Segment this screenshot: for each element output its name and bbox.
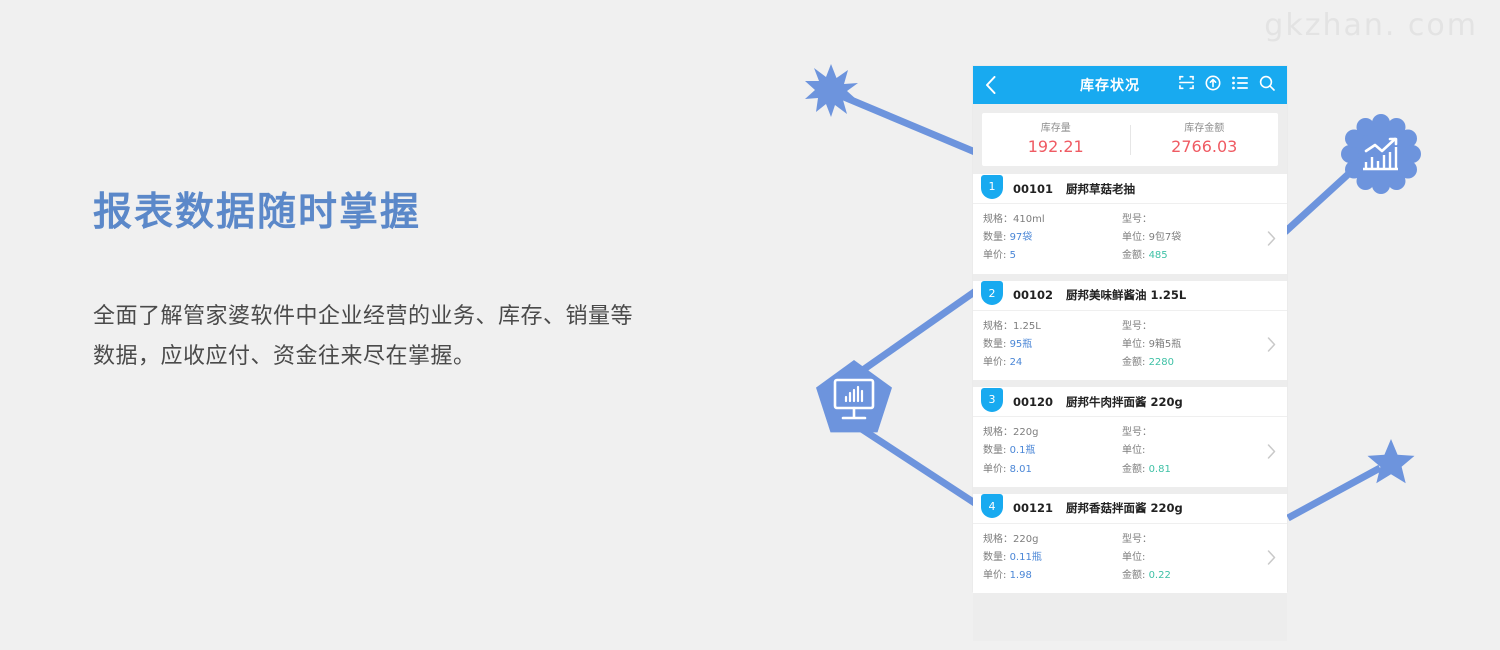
field-qty: 数量: 0.11瓶	[983, 549, 1122, 567]
field-price-value: 24	[1010, 357, 1023, 368]
summary-label: 库存金额	[1131, 121, 1279, 136]
item-index-badge: 3	[981, 388, 1003, 412]
list-item-body: 规格：410ml 数量: 97袋 单价: 5 型号： 单位: 9包7袋 金额: …	[973, 204, 1287, 274]
field-price-value: 8.01	[1010, 464, 1032, 475]
summary-value: 192.21	[982, 136, 1130, 158]
list-item-header: 2 00102 厨邦美味鲜酱油 1.25L	[973, 281, 1287, 311]
phone-mockup: 库存状况 库存量 192.21	[973, 66, 1287, 591]
item-index-badge: 1	[981, 175, 1003, 199]
list-item-body: 规格：220g 数量: 0.1瓶 单价: 8.01 型号： 单位: 金额: 0.…	[973, 417, 1287, 487]
statusbar-icon-group	[1179, 75, 1275, 96]
connector-line-mid-lower	[860, 428, 990, 513]
field-unit: 单位: 9包7袋	[1122, 229, 1261, 247]
chart-badge-icon	[1341, 114, 1421, 194]
field-price: 单价: 1.98	[983, 567, 1122, 585]
scan-icon[interactable]	[1179, 75, 1194, 95]
field-amount-value: 485	[1149, 250, 1168, 261]
connector-line-badge	[1285, 168, 1355, 232]
field-spec: 规格：410ml	[983, 211, 1122, 229]
connector-line-mid-upper	[860, 281, 990, 372]
field-price: 单价: 24	[983, 354, 1122, 372]
item-code: 00120	[1013, 395, 1053, 409]
list-item[interactable]: 4 00121 厨邦香菇拌面酱 220g 规格：220g 数量: 0.11瓶 单…	[973, 487, 1287, 594]
star-icon	[1368, 439, 1415, 483]
app-statusbar: 库存状况	[973, 66, 1287, 104]
field-spec: 规格：220g	[983, 531, 1122, 549]
field-amount: 金额: 485	[1122, 247, 1261, 265]
chevron-right-icon[interactable]	[1261, 337, 1281, 352]
field-qty-value: 95瓶	[1010, 339, 1033, 350]
item-code: 00101	[1013, 182, 1053, 196]
item-index-badge: 4	[981, 494, 1003, 518]
summary-cell-amount: 库存金额 2766.03	[1131, 121, 1279, 158]
chevron-left-icon[interactable]	[985, 76, 1011, 94]
field-spec-value: 1.25L	[1013, 321, 1041, 332]
summary-cell-quantity: 库存量 192.21	[982, 121, 1130, 158]
list-item-header: 1 00101 厨邦草菇老抽	[973, 174, 1287, 204]
field-unit: 单位: 9箱5瓶	[1122, 336, 1261, 354]
chevron-right-icon[interactable]	[1261, 444, 1281, 459]
field-amount-value: 2280	[1149, 357, 1174, 368]
field-spec-value: 220g	[1013, 534, 1038, 545]
item-name: 厨邦草菇老抽	[1066, 181, 1135, 197]
list-item[interactable]: 3 00120 厨邦牛肉拌面酱 220g 规格：220g 数量: 0.1瓶 单价…	[973, 380, 1287, 487]
field-amount-value: 0.81	[1149, 464, 1171, 475]
connector-line-top	[832, 92, 975, 152]
list-item-header: 3 00120 厨邦牛肉拌面酱 220g	[973, 387, 1287, 417]
field-model: 型号：	[1122, 318, 1261, 336]
item-name: 厨邦牛肉拌面酱 220g	[1066, 394, 1183, 410]
field-spec-value: 220g	[1013, 427, 1038, 438]
field-model: 型号：	[1122, 531, 1261, 549]
phone-footer-area	[973, 641, 1287, 650]
field-amount: 金额: 2280	[1122, 354, 1261, 372]
summary-card-wrap: 库存量 192.21 库存金额 2766.03	[973, 104, 1287, 166]
item-code: 00121	[1013, 501, 1053, 515]
item-name: 厨邦香菇拌面酱 220g	[1066, 500, 1183, 516]
field-unit: 单位:	[1122, 442, 1261, 460]
page-root: gkzhan. com 报表数据随时掌握 全面了解管家婆软件中企业经营的业务、库…	[0, 0, 1500, 650]
field-price-value: 5	[1010, 250, 1016, 261]
field-spec: 规格：1.25L	[983, 318, 1122, 336]
field-model: 型号：	[1122, 424, 1261, 442]
field-qty: 数量: 97袋	[983, 229, 1122, 247]
field-price-value: 1.98	[1010, 570, 1032, 581]
field-model: 型号：	[1122, 211, 1261, 229]
connector-line-star	[1288, 468, 1380, 518]
list-item[interactable]: 2 00102 厨邦美味鲜酱油 1.25L 规格：1.25L 数量: 95瓶 单…	[973, 274, 1287, 381]
summary-value: 2766.03	[1131, 136, 1279, 158]
starburst-icon	[805, 64, 858, 117]
item-name: 厨邦美味鲜酱油 1.25L	[1066, 287, 1186, 303]
list-empty-area	[973, 593, 1287, 641]
chevron-right-icon[interactable]	[1261, 550, 1281, 565]
field-qty: 数量: 95瓶	[983, 336, 1122, 354]
field-price: 单价: 8.01	[983, 461, 1122, 479]
list-item-body: 规格：220g 数量: 0.11瓶 单价: 1.98 型号： 单位: 金额: 0…	[973, 524, 1287, 594]
field-qty-value: 0.1瓶	[1010, 445, 1036, 456]
field-spec: 规格：220g	[983, 424, 1122, 442]
summary-label: 库存量	[982, 121, 1130, 136]
arrow-up-circle-icon[interactable]	[1205, 75, 1221, 96]
field-unit-value: 9包7袋	[1149, 232, 1182, 243]
chevron-right-icon[interactable]	[1261, 231, 1281, 246]
summary-card: 库存量 192.21 库存金额 2766.03	[982, 113, 1278, 166]
field-qty-value: 0.11瓶	[1010, 552, 1042, 563]
field-price: 单价: 5	[983, 247, 1122, 265]
list-item-body: 规格：1.25L 数量: 95瓶 单价: 24 型号： 单位: 9箱5瓶 金额:…	[973, 311, 1287, 381]
list-item[interactable]: 1 00101 厨邦草菇老抽 规格：410ml 数量: 97袋 单价: 5 型号…	[973, 174, 1287, 274]
field-amount-value: 0.22	[1149, 570, 1171, 581]
field-amount: 金额: 0.81	[1122, 461, 1261, 479]
item-code: 00102	[1013, 288, 1053, 302]
field-spec-value: 410ml	[1013, 214, 1045, 225]
field-amount: 金额: 0.22	[1122, 567, 1261, 585]
app-title: 库存状况	[1011, 75, 1179, 95]
field-unit: 单位:	[1122, 549, 1261, 567]
inventory-list: 1 00101 厨邦草菇老抽 规格：410ml 数量: 97袋 单价: 5 型号…	[973, 174, 1287, 593]
monitor-pentagon-icon	[816, 360, 892, 432]
list-icon[interactable]	[1232, 76, 1248, 95]
field-unit-value: 9箱5瓶	[1149, 339, 1182, 350]
field-qty: 数量: 0.1瓶	[983, 442, 1122, 460]
search-icon[interactable]	[1259, 75, 1275, 96]
field-qty-value: 97袋	[1010, 232, 1033, 243]
item-index-badge: 2	[981, 281, 1003, 305]
list-item-header: 4 00121 厨邦香菇拌面酱 220g	[973, 494, 1287, 524]
